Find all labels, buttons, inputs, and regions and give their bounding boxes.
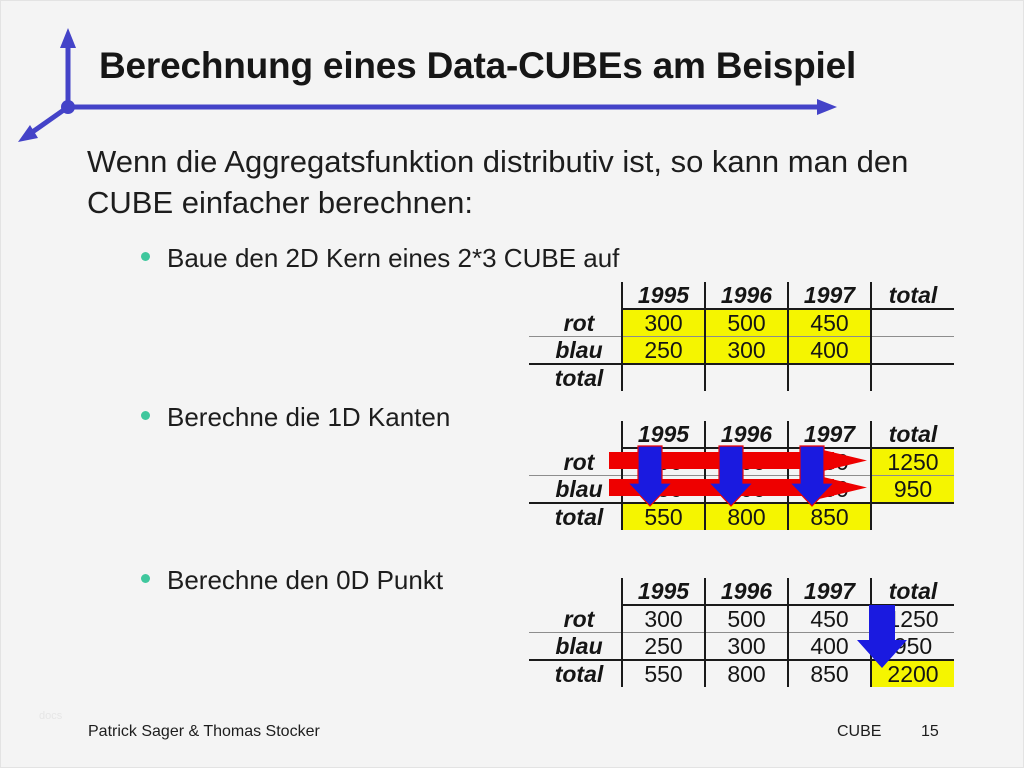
table-2d-core: 1995 1996 1997 total rot 300 500 450 bla… xyxy=(529,282,954,391)
row-label-blau: blau xyxy=(529,337,622,365)
table-0d-point: 1995 1996 1997 total rot 300 500 450 125… xyxy=(529,578,954,687)
footer-author: Patrick Sager & Thomas Stocker xyxy=(88,723,320,741)
table-header-row: 1995 1996 1997 total xyxy=(529,282,954,309)
cell-rot-1997: 450 xyxy=(788,605,871,633)
table-header-total: total xyxy=(871,421,954,448)
table-row: total xyxy=(529,364,954,391)
table-corner-cell xyxy=(529,578,622,605)
footer-watermark: docs xyxy=(39,710,62,722)
cell-rot-1997: 450 xyxy=(788,448,871,476)
cell-blau-total: 950 xyxy=(871,476,954,504)
row-label-total: total xyxy=(529,503,622,530)
bullet-dot-icon xyxy=(141,252,150,261)
cell-rot-1995: 300 xyxy=(622,309,705,337)
cell-rot-1997: 450 xyxy=(788,309,871,337)
cell-total-1995 xyxy=(622,364,705,391)
row-label-blau: blau xyxy=(529,476,622,504)
table-row: total 550 800 850 xyxy=(529,503,954,530)
cell-total-1995: 550 xyxy=(622,503,705,530)
cell-blau-1996: 300 xyxy=(705,476,788,504)
list-item: Berechne den 0D Punkt xyxy=(141,565,443,596)
table-header-1996: 1996 xyxy=(705,578,788,605)
table-header-1997: 1997 xyxy=(788,578,871,605)
cell-rot-1996: 500 xyxy=(705,309,788,337)
cell-rot-1996: 500 xyxy=(705,448,788,476)
footer-subject: CUBE xyxy=(837,723,881,741)
cell-blau-1997: 400 xyxy=(788,476,871,504)
list-item-label: Berechne die 1D Kanten xyxy=(167,402,450,433)
lead-paragraph: Wenn die Aggregatsfunktion distributiv i… xyxy=(87,141,957,223)
cell-rot-1995: 300 xyxy=(622,605,705,633)
table-header-1995: 1995 xyxy=(622,578,705,605)
cell-total-1996: 800 xyxy=(705,503,788,530)
cell-rot-1996: 500 xyxy=(705,605,788,633)
table-header-1997: 1997 xyxy=(788,282,871,309)
table-header-1995: 1995 xyxy=(622,282,705,309)
row-label-rot: rot xyxy=(529,309,622,337)
table-corner-cell xyxy=(529,282,622,309)
table-header-total: total xyxy=(871,282,954,309)
slide-canvas: Berechnung eines Data-CUBEs am Beispiel … xyxy=(0,0,1024,768)
cell-total-total xyxy=(871,364,954,391)
bullet-dot-icon xyxy=(141,574,150,583)
table-row: blau 250 300 400 950 xyxy=(529,476,954,504)
list-item: Baue den 2D Kern eines 2*3 CUBE auf xyxy=(141,243,619,274)
cell-blau-1995: 250 xyxy=(622,476,705,504)
list-item-label: Baue den 2D Kern eines 2*3 CUBE auf xyxy=(167,243,619,274)
footer-page-number: 15 xyxy=(921,723,939,741)
bullet-dot-icon xyxy=(141,411,150,420)
cell-blau-1996: 300 xyxy=(705,633,788,661)
table-1d-edges: 1995 1996 1997 total rot 300 500 450 125… xyxy=(529,421,954,530)
cell-blau-1997: 400 xyxy=(788,633,871,661)
cell-total-1996 xyxy=(705,364,788,391)
table-row: blau 250 300 400 xyxy=(529,337,954,365)
cell-total-1997: 850 xyxy=(788,503,871,530)
cell-blau-1995: 250 xyxy=(622,337,705,365)
table-header-1996: 1996 xyxy=(705,282,788,309)
table-row: rot 300 500 450 1250 xyxy=(529,605,954,633)
table-header-row: 1995 1996 1997 total xyxy=(529,578,954,605)
table-header-row: 1995 1996 1997 total xyxy=(529,421,954,448)
row-label-blau: blau xyxy=(529,633,622,661)
table-header-1996: 1996 xyxy=(705,421,788,448)
cell-blau-1996: 300 xyxy=(705,337,788,365)
table-header-1997: 1997 xyxy=(788,421,871,448)
table-header-1995: 1995 xyxy=(622,421,705,448)
cell-total-1996: 800 xyxy=(705,660,788,687)
row-label-total: total xyxy=(529,364,622,391)
cell-rot-total: 1250 xyxy=(871,605,954,633)
cell-total-1995: 550 xyxy=(622,660,705,687)
cell-total-1997 xyxy=(788,364,871,391)
cell-rot-total: 1250 xyxy=(871,448,954,476)
list-item-label: Berechne den 0D Punkt xyxy=(167,565,443,596)
table-row: rot 300 500 450 1250 xyxy=(529,448,954,476)
table-corner-cell xyxy=(529,421,622,448)
table-row: total 550 800 850 2200 xyxy=(529,660,954,687)
cell-blau-total: 950 xyxy=(871,633,954,661)
cell-blau-1995: 250 xyxy=(622,633,705,661)
list-item: Berechne die 1D Kanten xyxy=(141,402,450,433)
cell-total-total xyxy=(871,503,954,530)
cell-grand-total: 2200 xyxy=(871,660,954,687)
cell-total-1997: 850 xyxy=(788,660,871,687)
page-title: Berechnung eines Data-CUBEs am Beispiel xyxy=(99,45,856,87)
table-row: rot 300 500 450 xyxy=(529,309,954,337)
table-row: blau 250 300 400 950 xyxy=(529,633,954,661)
row-label-total: total xyxy=(529,660,622,687)
row-label-rot: rot xyxy=(529,605,622,633)
cell-rot-total xyxy=(871,309,954,337)
table-header-total: total xyxy=(871,578,954,605)
cell-blau-total xyxy=(871,337,954,365)
row-label-rot: rot xyxy=(529,448,622,476)
cell-blau-1997: 400 xyxy=(788,337,871,365)
cell-rot-1995: 300 xyxy=(622,448,705,476)
